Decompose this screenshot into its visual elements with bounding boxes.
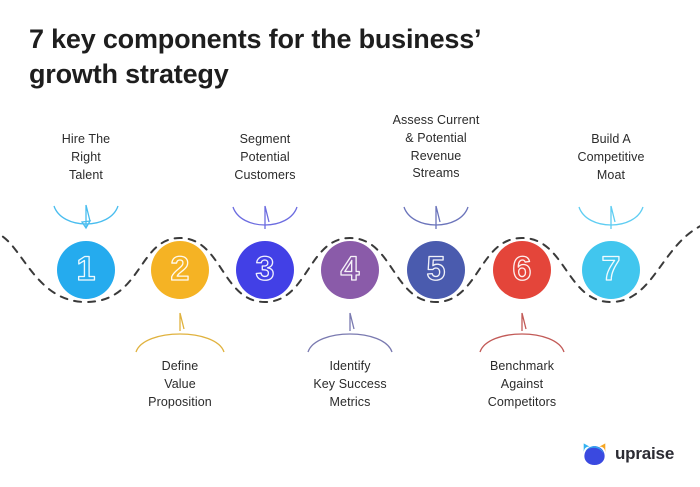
step-label-1: Hire The Right Talent: [16, 131, 156, 184]
step-number-6: 6: [513, 250, 532, 288]
step-number-3: 3: [256, 250, 275, 288]
step-label-5: Assess Current & Potential Revenue Strea…: [366, 112, 506, 183]
upraise-logo-icon: [581, 440, 608, 467]
step-label-3: Segment Potential Customers: [195, 131, 335, 184]
step-circle-7[interactable]: 7: [582, 241, 640, 299]
step-circle-1[interactable]: 1: [57, 241, 115, 299]
pointer-line-6-spike: [522, 313, 526, 331]
brand-logo: upraise: [581, 440, 674, 467]
step-circle-3[interactable]: 3: [236, 241, 294, 299]
step-number-2: 2: [171, 250, 190, 288]
step-circle-5[interactable]: 5: [407, 241, 465, 299]
pointer-line-4-spike: [350, 313, 354, 331]
step-label-7: Build A Competitive Moat: [541, 131, 681, 184]
step-label-2: Define Value Proposition: [110, 358, 250, 411]
step-number-4: 4: [341, 250, 360, 288]
pointer-line-2: [136, 334, 224, 352]
logo-wordmark: upraise: [615, 444, 674, 464]
diagram-stage: 1234567: [0, 0, 700, 487]
step-number-5: 5: [427, 250, 446, 288]
pointer-line-6: [480, 334, 564, 352]
step-label-6: Benchmark Against Competitors: [452, 358, 592, 411]
infographic-canvas: 7 key components for the business’ growt…: [0, 0, 700, 487]
step-number-7: 7: [602, 250, 621, 288]
pointer-line-2-spike: [180, 313, 184, 331]
step-circle-4[interactable]: 4: [321, 241, 379, 299]
step-circle-6[interactable]: 6: [493, 241, 551, 299]
step-circle-2[interactable]: 2: [151, 241, 209, 299]
step-circles: 1234567: [57, 241, 640, 299]
step-label-4: Identify Key Success Metrics: [280, 358, 420, 411]
step-number-1: 1: [77, 250, 96, 288]
pointer-line-4: [308, 334, 392, 352]
